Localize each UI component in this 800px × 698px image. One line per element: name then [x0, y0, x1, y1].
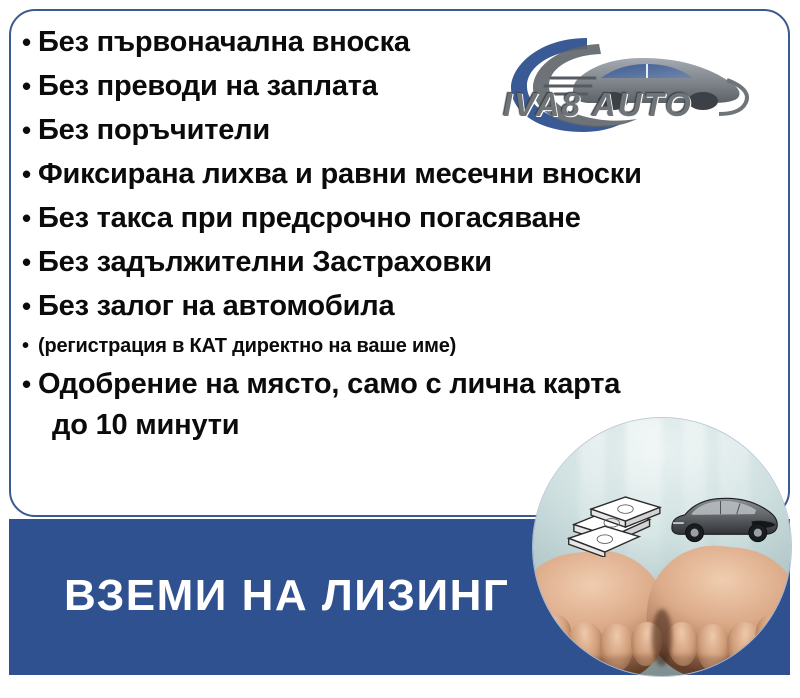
bullet-dot-icon: • — [22, 284, 38, 328]
list-item-label: Без задължителни Застраховки — [38, 240, 767, 284]
hands-money-car-photo — [533, 418, 791, 676]
ivas-auto-logo: IVA8 AUTO — [495, 28, 760, 140]
leasing-advert-poster: • Без първоначална вноска • Без преводи … — [0, 0, 800, 698]
list-item-label: Без такса при предсрочно погасяване — [38, 196, 767, 240]
list-item-note-label: (регистрация в КАТ директно на ваше име) — [38, 328, 767, 364]
list-item-label: Одобрение на място, само с лична карта — [38, 368, 620, 400]
bullet-dot-icon: • — [22, 328, 38, 364]
cash-bundle-icon — [567, 488, 670, 558]
list-item: • Без задължителни Застраховки — [22, 240, 767, 284]
bullet-dot-icon: • — [22, 20, 38, 64]
bullet-dot-icon: • — [22, 364, 38, 405]
hand-base-shadow — [554, 655, 771, 676]
bullet-dot-icon: • — [22, 64, 38, 108]
bullet-dot-icon: • — [22, 152, 38, 196]
list-item-label: Без залог на автомобила — [38, 284, 767, 328]
list-item: • Без такса при предсрочно погасяване — [22, 196, 767, 240]
list-item-note: • (регистрация в КАТ директно на ваше им… — [22, 328, 767, 364]
list-item-label: Фиксирана лихва и равни месечни вноски — [38, 152, 767, 196]
sedan-car-icon — [667, 488, 781, 550]
cta-banner-headline: ВЗЕМИ НА ЛИЗИНГ — [64, 571, 509, 621]
list-item: • Без залог на автомобила — [22, 284, 767, 328]
bullet-dot-icon: • — [22, 240, 38, 284]
bullet-dot-icon: • — [22, 108, 38, 152]
logo-wordmark: IVA8 AUTO — [503, 86, 753, 124]
list-item: • Фиксирана лихва и равни месечни вноски — [22, 152, 767, 196]
bullet-dot-icon: • — [22, 196, 38, 240]
